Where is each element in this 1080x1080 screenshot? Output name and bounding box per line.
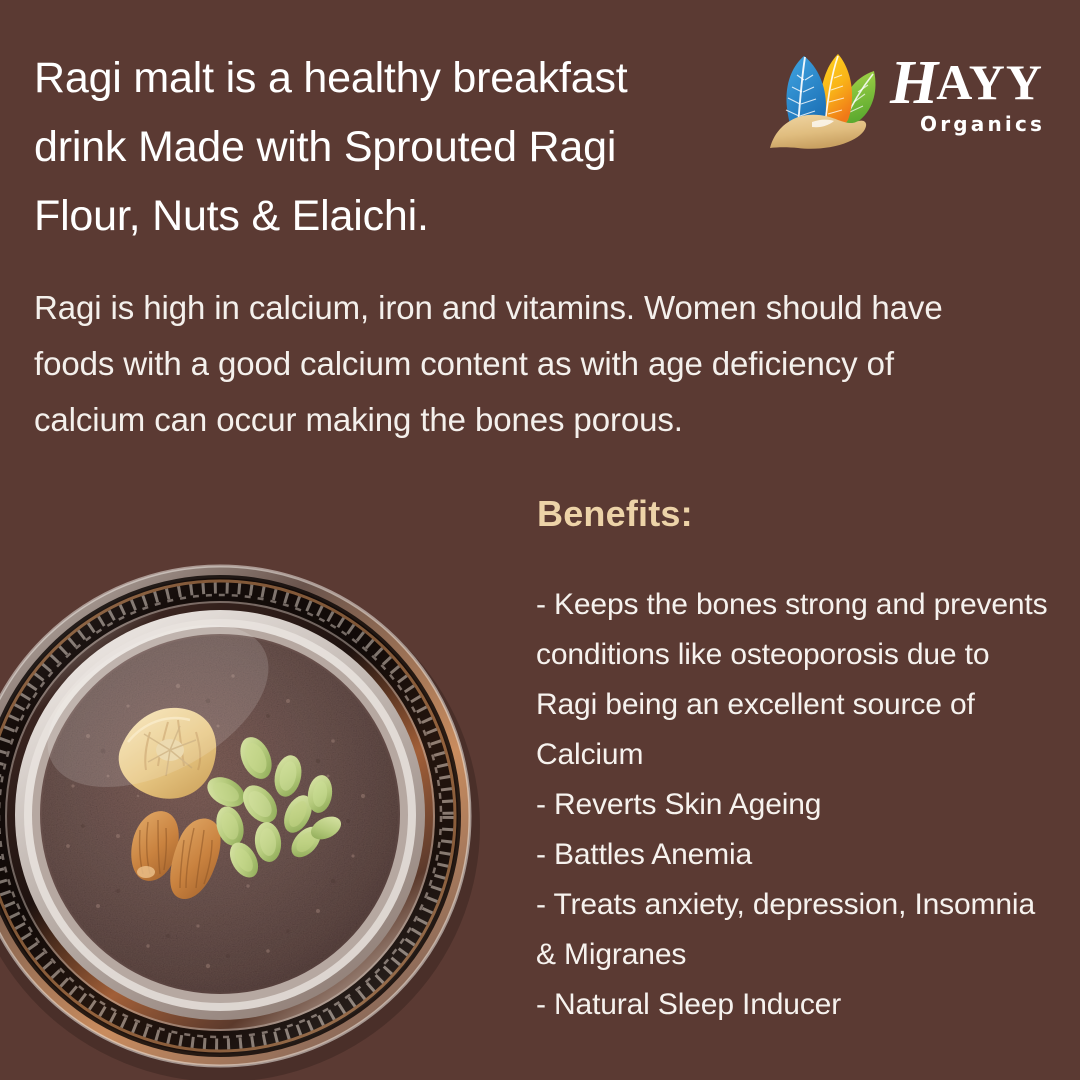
brand-logo: HAYY Organics <box>768 44 1038 164</box>
leaf-hand-icon <box>768 44 894 156</box>
benefits-heading: Benefits: <box>537 492 693 536</box>
body-paragraph: Ragi is high in calcium, iron and vitami… <box>34 280 1009 448</box>
ragi-malt-bowl-photo <box>0 536 516 1080</box>
poster-canvas: Ragi malt is a healthy breakfast drink M… <box>0 0 1080 1080</box>
brand-name-initial: H <box>890 49 936 117</box>
brand-name: HAYY <box>890 52 1043 109</box>
brand-name-rest: AYY <box>936 54 1043 110</box>
brand-tagline: Organics <box>920 112 1045 136</box>
page-title: Ragi malt is a healthy breakfast drink M… <box>34 44 724 251</box>
benefits-list: - Keeps the bones strong and prevents co… <box>536 580 1056 1030</box>
brand-wordmark: HAYY Organics <box>890 50 1040 154</box>
